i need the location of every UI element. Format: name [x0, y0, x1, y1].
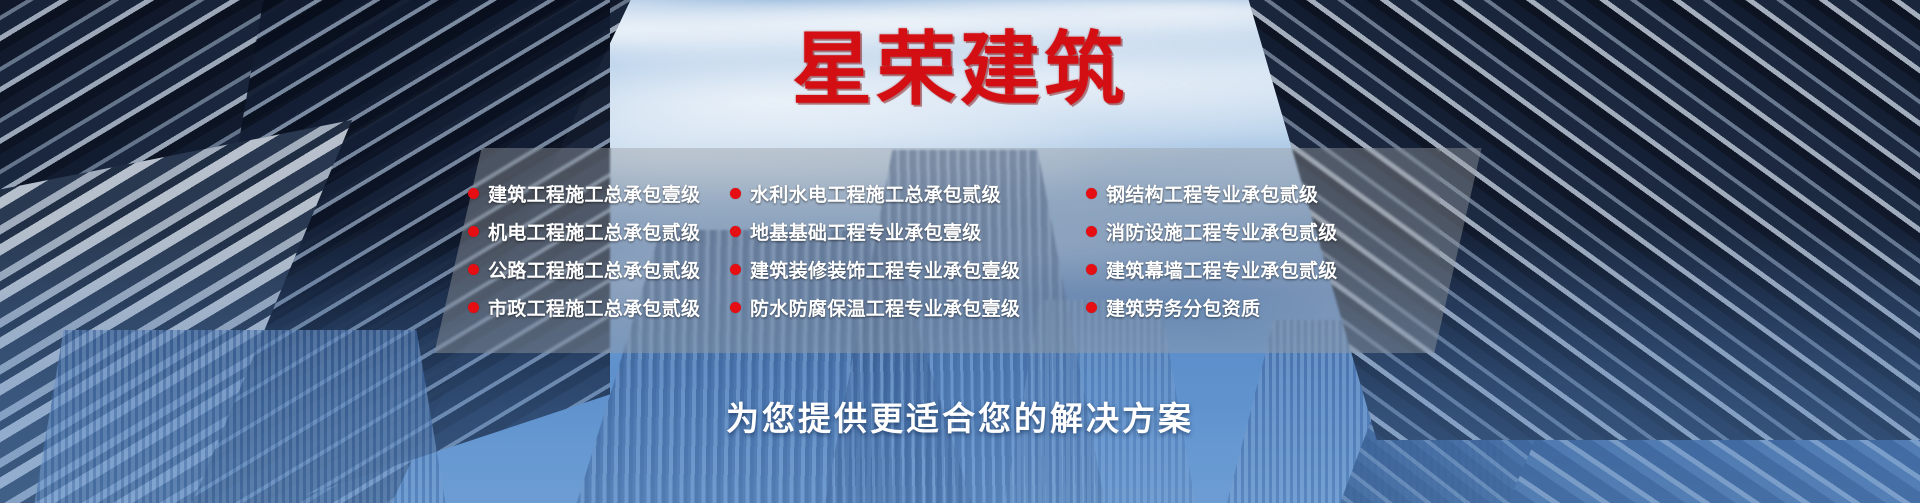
list-item: 钢结构工程专业承包贰级: [1086, 180, 1398, 207]
list-item: 市政工程施工总承包贰级: [468, 294, 718, 321]
list-item-label: 建筑劳务分包资质: [1106, 294, 1260, 321]
red-dot-icon: [1086, 302, 1097, 313]
list-item-label: 建筑幕墙工程专业承包贰级: [1106, 256, 1338, 283]
red-dot-icon: [730, 226, 741, 237]
qualifications-list: 建筑工程施工总承包壹级 机电工程施工总承包贰级 公路工程施工总承包贰级 市政工程…: [458, 148, 1458, 353]
list-item: 机电工程施工总承包贰级: [468, 218, 718, 245]
tagline: 为您提供更适合您的解决方案: [0, 392, 1920, 440]
red-dot-icon: [468, 226, 479, 237]
red-dot-icon: [730, 188, 741, 199]
red-dot-icon: [730, 302, 741, 313]
qualifications-column-3: 钢结构工程专业承包贰级 消防设施工程专业承包贰级 建筑幕墙工程专业承包贰级 建筑…: [1068, 180, 1398, 321]
list-item-label: 消防设施工程专业承包贰级: [1106, 218, 1338, 245]
list-item-label: 防水防腐保温工程专业承包壹级: [750, 294, 1020, 321]
page-title: 星荣建筑: [0, 30, 1920, 110]
list-item: 防水防腐保温工程专业承包壹级: [730, 294, 1068, 321]
list-item-label: 建筑装修装饰工程专业承包壹级: [750, 256, 1020, 283]
red-dot-icon: [1086, 226, 1097, 237]
list-item: 建筑幕墙工程专业承包贰级: [1086, 256, 1398, 283]
list-item: 建筑装修装饰工程专业承包壹级: [730, 256, 1068, 283]
list-item-label: 机电工程施工总承包贰级: [488, 218, 700, 245]
list-item: 公路工程施工总承包贰级: [468, 256, 718, 283]
qualifications-column-2: 水利水电工程施工总承包贰级 地基基础工程专业承包壹级 建筑装修装饰工程专业承包壹…: [718, 180, 1068, 321]
list-item: 地基基础工程专业承包壹级: [730, 218, 1068, 245]
qualifications-column-1: 建筑工程施工总承包壹级 机电工程施工总承包贰级 公路工程施工总承包贰级 市政工程…: [468, 180, 718, 321]
list-item-label: 钢结构工程专业承包贰级: [1106, 180, 1318, 207]
list-item-label: 建筑工程施工总承包壹级: [488, 180, 700, 207]
list-item: 建筑劳务分包资质: [1086, 294, 1398, 321]
list-item: 建筑工程施工总承包壹级: [468, 180, 718, 207]
list-item-label: 市政工程施工总承包贰级: [488, 294, 700, 321]
red-dot-icon: [1086, 188, 1097, 199]
list-item: 消防设施工程专业承包贰级: [1086, 218, 1398, 245]
list-item-label: 公路工程施工总承包贰级: [488, 256, 700, 283]
red-dot-icon: [1086, 264, 1097, 275]
red-dot-icon: [468, 264, 479, 275]
list-item-label: 地基基础工程专业承包壹级: [750, 218, 982, 245]
red-dot-icon: [468, 302, 479, 313]
red-dot-icon: [468, 188, 479, 199]
list-item: 水利水电工程施工总承包贰级: [730, 180, 1068, 207]
red-dot-icon: [730, 264, 741, 275]
company-hero-banner: 星荣建筑 建筑工程施工总承包壹级 机电工程施工总承包贰级 公路工程施工总承包贰级…: [0, 0, 1920, 503]
list-item-label: 水利水电工程施工总承包贰级: [750, 180, 1001, 207]
